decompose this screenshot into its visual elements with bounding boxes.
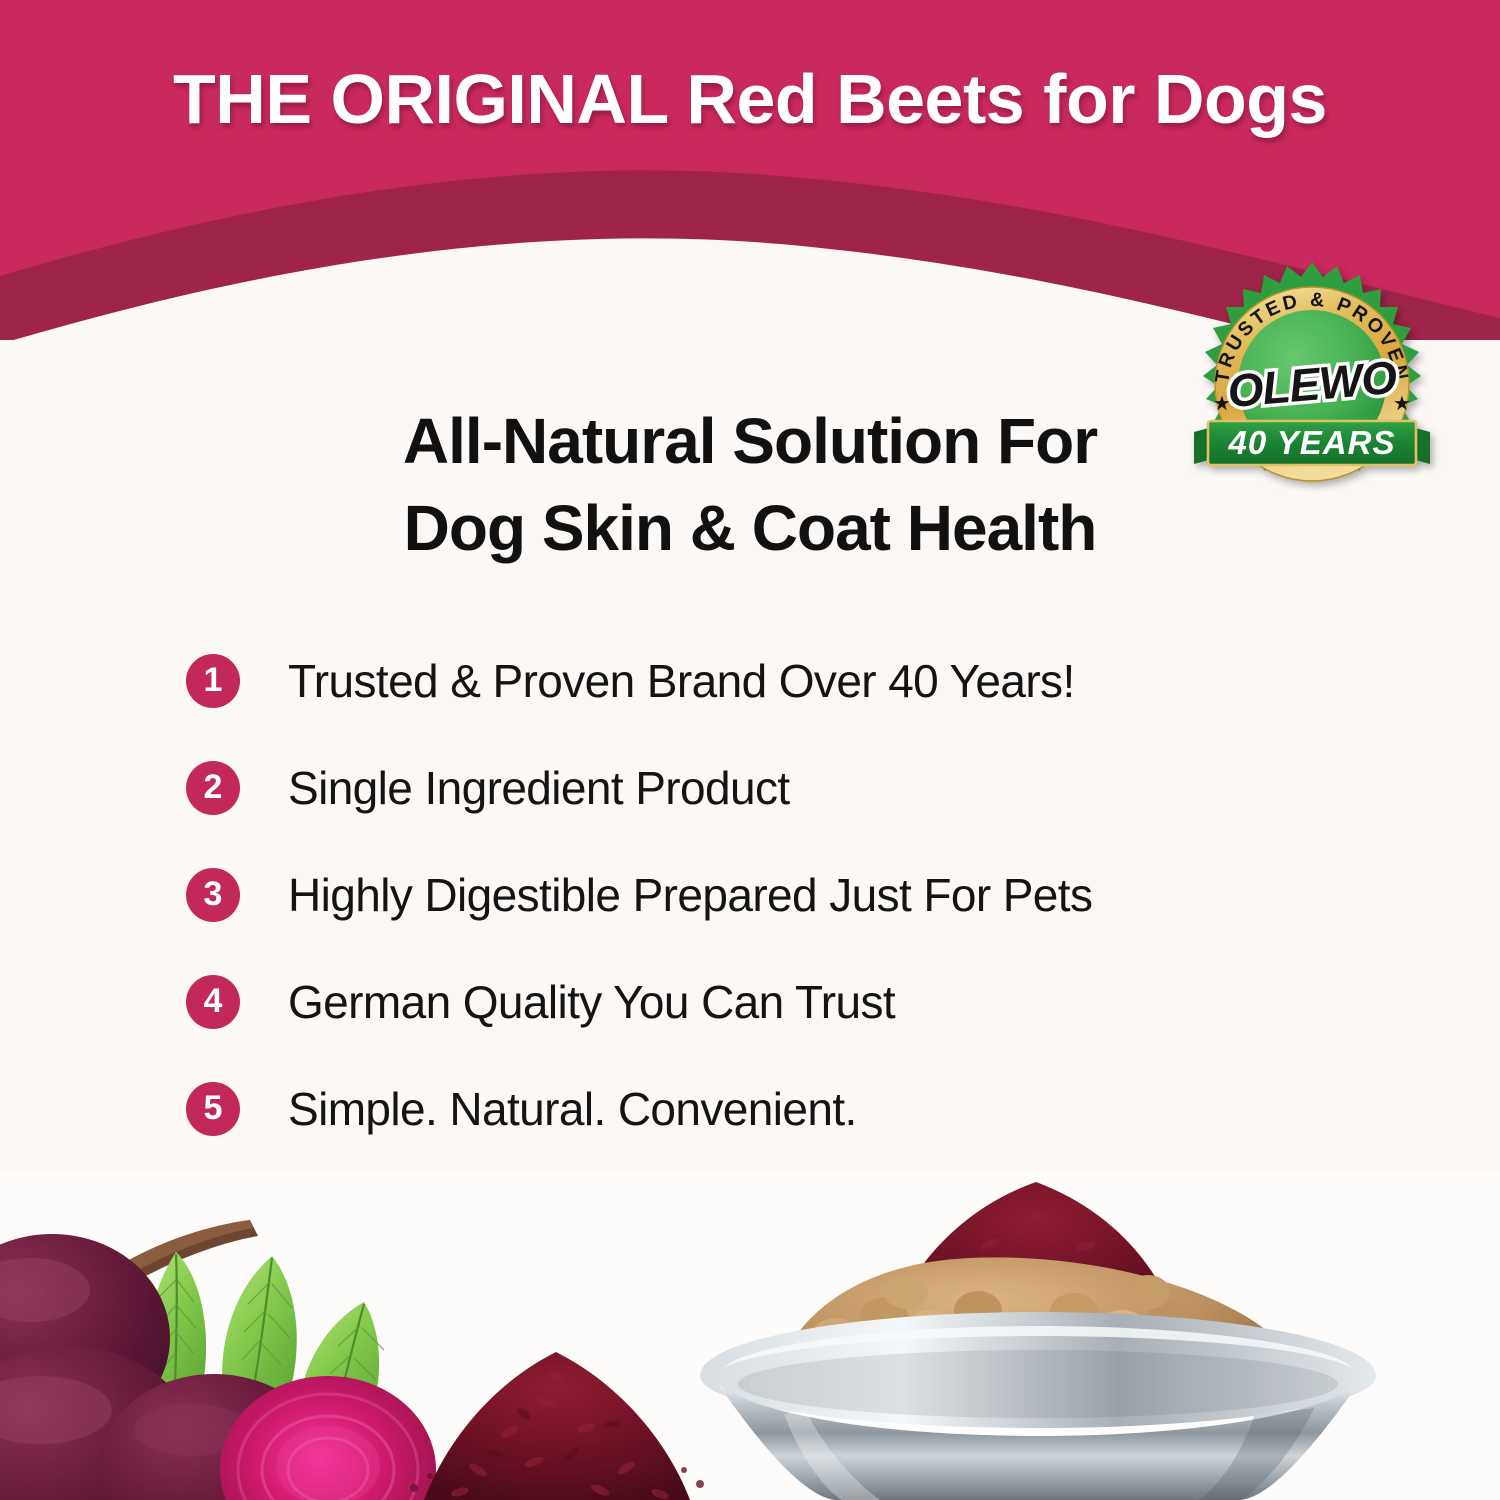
- banner-title: THE ORIGINAL Red Beets for Dogs: [0, 64, 1500, 134]
- list-item: 2 Single Ingredient Product: [186, 759, 1366, 817]
- list-item: 1 Trusted & Proven Brand Over 40 Years!: [186, 652, 1366, 710]
- benefit-text: Single Ingredient Product: [288, 765, 790, 811]
- benefit-list: 1 Trusted & Proven Brand Over 40 Years! …: [186, 652, 1366, 1138]
- benefit-text: Highly Digestible Prepared Just For Pets: [288, 872, 1092, 918]
- product-photo-strip: [0, 1170, 1500, 1500]
- list-item: 5 Simple. Natural. Convenient.: [186, 1080, 1366, 1138]
- product-infographic: THE ORIGINAL Red Beets for Dogs: [0, 0, 1500, 1500]
- benefit-number-badge: 2: [186, 761, 240, 815]
- trusted-proven-badge-icon: TRUSTED & PROVEN ★ ★ OLEWO 40 YEARS: [1186, 258, 1438, 510]
- benefit-number-badge: 4: [186, 975, 240, 1029]
- benefit-number-badge: 3: [186, 868, 240, 922]
- benefit-text: German Quality You Can Trust: [288, 979, 895, 1025]
- benefit-text: Trusted & Proven Brand Over 40 Years!: [288, 658, 1075, 704]
- benefit-number-badge: 5: [186, 1082, 240, 1136]
- badge-ribbon-text: 40 YEARS: [1228, 424, 1396, 461]
- benefit-text: Simple. Natural. Convenient.: [288, 1086, 857, 1132]
- badge-ribbon: 40 YEARS: [1194, 421, 1430, 465]
- benefit-number-badge: 1: [186, 654, 240, 708]
- list-item: 3 Highly Digestible Prepared Just For Pe…: [186, 866, 1366, 924]
- list-item: 4 German Quality You Can Trust: [186, 973, 1366, 1031]
